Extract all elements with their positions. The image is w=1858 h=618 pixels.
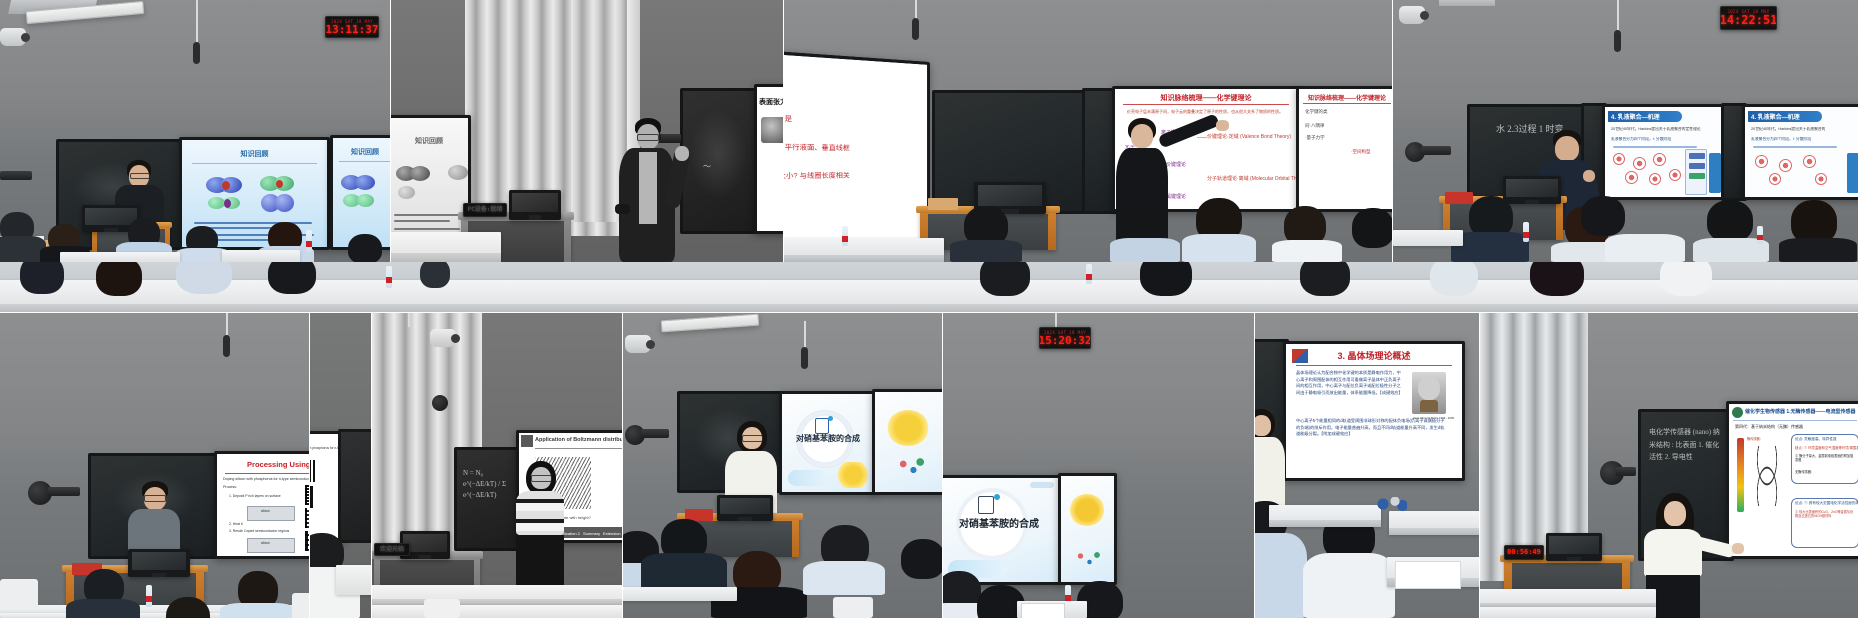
student-body: [1182, 234, 1256, 262]
clock-time: 00:56:49: [1507, 549, 1541, 556]
student-desk: [1389, 511, 1480, 535]
slide-bullet: 20世纪40年代，Harkins提出关于乳液聚合的定性理论: [1611, 127, 1701, 132]
water-bottle: [1757, 226, 1763, 244]
slide-title-edge: 知识回顾: [394, 136, 464, 146]
student-body: [1303, 553, 1395, 618]
student-head: [1140, 262, 1192, 296]
front-desk: [391, 232, 501, 262]
slide-label-silicon: silicon: [261, 541, 270, 545]
slide-bullet: 中心离子5个能量相同的d轨道受周围非球形对称的配体负电场(负离子或偶极分子的负端…: [1296, 418, 1446, 438]
photo-panel-8: 2024 SAT 18 MAY 15:20:32 对硝基苯胺的合成: [943, 313, 1280, 618]
podium-monitor: [509, 190, 561, 220]
podium-monitor: [128, 549, 190, 577]
hanging-mic-icon: [912, 18, 919, 40]
photo-panel-6: N = N₀ e^(−ΔE/kT) / Σ e^(−ΔE/kT) Applica…: [372, 313, 623, 618]
hanging-mic-wire: [915, 0, 917, 20]
clock-time: 15:20:32: [1039, 335, 1091, 346]
photo-panel-row1-lower-strip: [0, 262, 1858, 314]
camera-icon: [625, 335, 651, 353]
photo-panel-7: 对硝基苯胺的合成: [623, 313, 943, 618]
chair: [833, 597, 873, 618]
slide-label-silicon: silicon: [261, 509, 270, 513]
podium-monitor: [1546, 533, 1602, 561]
student-head: [1430, 262, 1478, 296]
slide-title: 对硝基苯胺的合成: [952, 518, 1046, 531]
panel-seam: [783, 0, 784, 262]
photo-panel-6-left-inset: Doping silicon with phosphorus for n-typ…: [310, 313, 372, 618]
slide-bullet: 力的方向是怎样的? 平行液面、垂直线框: [784, 140, 850, 153]
wall-speaker-rail: [641, 429, 669, 438]
clock-time: 14:22:51: [1720, 14, 1777, 26]
podium-monitor: [1503, 176, 1561, 204]
podium-status-text: 欢迎光临: [380, 547, 404, 553]
photo-panel-1: 2024 SAT 18 MAY 13:11:37 知识回顾: [0, 0, 390, 262]
student-body: [1272, 240, 1342, 262]
photo-panel-2: 知识回顾 〜 表面张力 (surface tension): [391, 0, 783, 262]
student-body: [803, 561, 885, 595]
projection-screen-pna-title: 对硝基苯胺的合成: [943, 475, 1063, 585]
slide-title: 4. 乳液聚合—机理: [1751, 112, 1800, 121]
slide-tab: Summary: [583, 531, 600, 536]
student-body: [950, 240, 1022, 262]
digital-clock: 2024 SAT 18 MAY 15:20:32: [1039, 327, 1091, 349]
projection-screen-2: 知识回顾: [330, 135, 390, 250]
slide-bullet: 价壳电子层未满原子间，电子云的重叠决定了原子的性质，也从很大关系了物质的性质。: [1127, 109, 1291, 115]
paper-document: [1395, 561, 1461, 589]
slide-bullet: ② 较大比表面积的CuO、ZnO等金属氧化物及过渡位的NiOH基材料: [1795, 510, 1855, 519]
slide-title: 知识回顾: [336, 147, 390, 157]
slide-title: 表面张力 (surface tension): [784, 81, 919, 108]
hanging-mic-wire: [196, 0, 198, 42]
slide-title: 4. 乳液聚合—机理: [1611, 112, 1660, 121]
slide-bullet: Process:: [223, 485, 237, 489]
podium-status-text: PC设备:就绪: [468, 207, 503, 213]
lecturer: [613, 118, 693, 262]
slide-photo-caption: Hans Albrecht Bethe 1906 - 2005: [1413, 416, 1454, 420]
slide-bullet: 1. Deposit P rich layers on surface: [229, 494, 281, 498]
panel-seam: [0, 312, 1858, 313]
slide-title: Application of Boltzmann distribution: [535, 437, 623, 443]
slide-bullet: 乳液聚合分为四个阶段，I: 分散阶段: [1751, 137, 1811, 142]
slide-title: 知识脉络梳理——化学键理论: [1124, 93, 1288, 103]
hanging-mic-wire: [1055, 313, 1057, 327]
projection-screen-bonding-theory-2: 知识脉络梳理——化学键理论 化学键的类 同·八隅律 ·量子力学 ·空间构型: [1296, 86, 1392, 212]
student-head: [1530, 262, 1584, 296]
wall-speaker-rail: [0, 171, 32, 180]
projection-screen-title: 对硝基苯胺的合成: [779, 391, 877, 495]
projection-screen-surface-tension-wide: 表面张力 (surface tension) 液膜受力情况如何? 是 力的方向是…: [784, 40, 930, 262]
digital-clock: 2024 SAT 18 MAY 13:11:37: [325, 16, 379, 38]
student-body: [1110, 238, 1180, 262]
hanging-mic-wire: [226, 313, 228, 335]
hanging-mic-icon: [1614, 30, 1621, 52]
projection-screen-emulsion-2: 4. 乳液聚合—机理 20世纪40年代，Harkins提出关于乳液聚合的 乳液聚…: [1742, 104, 1858, 200]
hanging-mic-wire: [804, 321, 806, 349]
ceiling-panel: [1439, 0, 1495, 6]
clock-time: 13:11:37: [326, 24, 379, 35]
podium-monitor: [717, 495, 773, 521]
slide-node: 价键理论·定域 (Valence Bond Theory): [1207, 133, 1291, 140]
molecular-model: [1377, 497, 1407, 511]
student-head: [1707, 200, 1753, 242]
slide-bullet: 优点: ① 具有较大范围电化学活性面的纳米材料: [1795, 501, 1858, 506]
student-desk: [1269, 505, 1381, 527]
slide-title: 催化学生物传感器 1.无酶传感器——电流型传感器: [1745, 408, 1858, 415]
water-bottle: [306, 230, 312, 252]
front-desk: [372, 585, 623, 605]
student-desk: [336, 565, 372, 595]
front-desk: [1480, 589, 1656, 609]
water-bottle: [1086, 264, 1092, 284]
projection-screen-pna-2: [1058, 473, 1117, 585]
student-head: [1352, 208, 1392, 248]
camera-icon: [430, 329, 456, 347]
student-desk: [784, 238, 944, 262]
hanging-mic-wire: [408, 313, 410, 327]
slide-bullet: ② 酶分子量大、金属制电极表面的附加阻变慢: [1795, 454, 1855, 463]
desk-items: [1445, 192, 1473, 204]
student-head: [1581, 196, 1625, 236]
slide-bullet: Doping silicon with phosphorus for n-typ…: [223, 477, 315, 481]
student-desk: [60, 252, 180, 262]
camera-icon: [0, 28, 26, 46]
slide-title: 知识脉络梳理——化学键理论: [1304, 93, 1390, 102]
panel-seam: [1392, 0, 1393, 262]
wall-speaker-rail: [1616, 467, 1636, 476]
student-head: [96, 262, 142, 296]
student-head: [901, 539, 943, 579]
projection-screen-emulsion-1: 4. 乳液聚合—机理 20世纪40年代，Harkins提出关于乳液聚合的定性理论…: [1602, 104, 1726, 200]
wall-speaker-rail: [1421, 146, 1451, 155]
slide-bullet: 如何衡量所受力的大小? 与线圈长度相关: [784, 169, 850, 181]
wall-speaker-icon: [432, 395, 448, 411]
chair: [0, 579, 38, 609]
hanging-mic-icon: [223, 335, 230, 357]
podium-status-display: PC设备:就绪: [463, 203, 507, 217]
slide-diagram-label: 酶传感器：: [1747, 436, 1763, 441]
slide-bullet: 液膜受力情况如何? 是: [784, 110, 792, 123]
lecturer: [514, 461, 572, 605]
slide-bullet: 无酶传感器：: [1795, 470, 1855, 474]
projection-screen-title-2: [872, 389, 943, 495]
photo-panel-9: 3. 晶体场理论概述 晶体场理论认为配合物中化学键的本质是静电作用力，中心离子和…: [1255, 313, 1480, 618]
hanging-mic-wire: [1617, 0, 1619, 30]
student-body: [1255, 533, 1307, 618]
slide-bullet: 3. Result: Doped semiconductor regions: [229, 529, 289, 533]
slide-bullet: 2. Heat it: [229, 522, 243, 526]
hanging-mic-icon: [193, 42, 200, 64]
slide-bullet: 同·八隅律: [1305, 123, 1325, 129]
slide-bullet: ·量子力学: [1305, 135, 1325, 141]
panel-seam: [371, 313, 372, 618]
slide-bullet: 乳液聚合分为四个阶段，I: 分散阶段: [1611, 137, 1671, 142]
panel-seam: [1254, 313, 1255, 618]
digital-clock: 00:56:49: [1504, 545, 1544, 560]
slide-bullet: 化学键的类: [1305, 109, 1328, 115]
student-body: [66, 599, 140, 618]
slide-bullet: 第四代：基于纳米结构（无酶）传感器: [1735, 424, 1803, 430]
photo-panel-3: 表面张力 (surface tension) 液膜受力情况如何? 是 力的方向是…: [784, 0, 1392, 262]
slide-bullet: 优点: 灵敏度高、特异性强: [1795, 437, 1837, 442]
slide-bullet: 缺点: ① 环境温度和空气湿度等环境/周围易受影响，稳定性弱: [1795, 445, 1858, 450]
slide-bullet: 晶体场理论认为配合物中化学键的本质是静电作用力，中心离子和周围配体的相互作用可看…: [1296, 370, 1402, 396]
chair: [424, 599, 460, 618]
panel-seam: [309, 313, 310, 618]
student-desk: [222, 250, 300, 262]
panel-seam: [622, 313, 623, 618]
slide-title: 表面张力 (surface tension): [759, 97, 783, 107]
student-body: [220, 603, 296, 618]
student-head: [176, 262, 232, 294]
slide-bullet: ·空间构型: [1351, 149, 1371, 155]
photo-panel-4: 2024 SAT 18 MAY 14:22:51 水 2.3过程 1 时变 4.…: [1393, 0, 1858, 262]
student-head: [268, 262, 316, 294]
hanging-mic-icon: [801, 347, 808, 369]
water-bottle: [146, 585, 152, 607]
front-desk: [372, 605, 623, 618]
student-desk: [1393, 230, 1463, 246]
slide-tab: Extension: [603, 531, 621, 536]
blackboard-text: 电化学传感器 (nano) 纳米结构 : 比表面 1. 催化活性 2. 导电性: [1649, 426, 1723, 464]
desk-items: [928, 198, 958, 210]
podium-status-display: 欢迎光临: [374, 543, 410, 556]
slide-title: 知识回顾: [189, 149, 320, 159]
photo-collage: 2024 SAT 18 MAY 13:11:37 知识回顾: [0, 0, 1858, 618]
student-body: [641, 553, 727, 591]
student-head: [20, 262, 64, 294]
front-desk: [1480, 607, 1656, 618]
student-head: [1300, 262, 1350, 296]
water-bottle: [386, 266, 392, 288]
blackboard-equation: N = N₀ e^(−ΔE/kT) / Σ e^(−ΔE/kT): [463, 468, 515, 502]
student-head: [420, 262, 450, 288]
paper-document: [1021, 603, 1065, 618]
water-bottle: [842, 226, 848, 246]
student-head: [980, 262, 1030, 296]
student-head: [1660, 262, 1712, 296]
panel-seam: [942, 313, 943, 618]
digital-clock: 2024 SAT 18 MAY 14:22:51: [1720, 6, 1777, 30]
student-desk: [623, 587, 737, 601]
slide-bullet: 20世纪40年代，Harkins提出关于乳液聚合的: [1751, 127, 1825, 132]
student-body: [1605, 234, 1685, 262]
blackboard-panel: [338, 429, 372, 543]
photo-panel-10: 电化学传感器 (nano) 纳米结构 : 比表面 1. 催化活性 2. 导电性 …: [1480, 313, 1858, 618]
panel-seam: [1479, 313, 1480, 618]
student-head: [348, 234, 382, 262]
projection-screen-surface-tension: 表面张力 (surface tension): [754, 84, 783, 234]
blackboard: N = N₀ e^(−ΔE/kT) / Σ e^(−ΔE/kT): [454, 447, 522, 551]
water-bottle: [1523, 222, 1529, 242]
slide-title: 对硝基苯胺的合成: [792, 434, 864, 444]
panel-seam: [390, 0, 391, 262]
student-body: [1779, 238, 1857, 262]
projection-screen-biosensor: 催化学生物传感器 1.无酶传感器——电流型传感器 第四代：基于纳米结构（无酶）传…: [1726, 401, 1858, 559]
clicker: [615, 204, 630, 214]
camera-icon: [1399, 6, 1425, 24]
slide-node: 分子轨道理论·离域 (Molecular Orbital Theory): [1207, 175, 1297, 182]
slide-title: 3. 晶体场理论概述: [1295, 349, 1453, 362]
projection-screen-crystal-field: 3. 晶体场理论概述 晶体场理论认为配合物中化学键的本质是静电作用力，中心离子和…: [1283, 341, 1465, 481]
wall-speaker-rail: [48, 487, 80, 496]
